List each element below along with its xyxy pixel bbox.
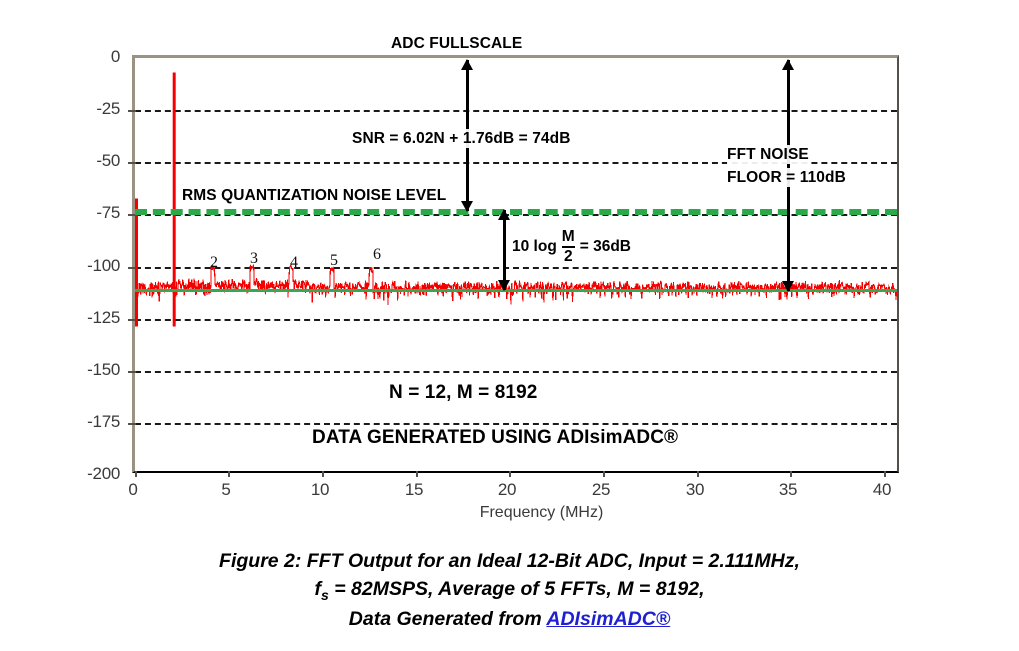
harmonic-marker-6: 6	[373, 246, 381, 264]
annotation-params: N = 12, M = 8192	[389, 381, 537, 405]
fft-noise-floor-arrow-head-down	[782, 281, 794, 292]
figure-caption: Figure 2: FFT Output for an Ideal 12-Bit…	[0, 548, 1019, 633]
x-tick-label-5: 5	[206, 480, 246, 500]
plot-area: 2 3 4 5 6	[132, 55, 899, 473]
process-gain-denominator: 2	[562, 246, 575, 265]
fft-noise-floor-arrow-head-up	[782, 59, 794, 70]
y-tick-label-100: -100	[62, 256, 120, 276]
snr-arrow-head-up	[461, 59, 473, 70]
annotation-fft-noise-floor-line1: FFT NOISE	[727, 145, 809, 164]
annotation-rms-quantization-noise: RMS QUANTIZATION NOISE LEVEL	[182, 186, 446, 205]
process-gain-arrow-head-up	[498, 209, 510, 220]
x-tick-label-10: 10	[300, 480, 340, 500]
caption-line-1: Figure 2: FFT Output for an Ideal 12-Bit…	[0, 548, 1019, 576]
process-gain-suffix: = 36dB	[580, 238, 631, 256]
x-tick-mark-10	[322, 471, 324, 477]
x-tick-label-20: 20	[487, 480, 527, 500]
y-tick-label-75: -75	[62, 203, 120, 223]
annotation-data-source: DATA GENERATED USING ADIsimADC®	[312, 426, 678, 450]
x-tick-mark-20	[509, 471, 511, 477]
y-tick-label-25: -25	[62, 99, 120, 119]
caption-line-2-rest: = 82MSPS, Average of 5 FFTs, M = 8192,	[329, 578, 705, 600]
process-gain-prefix: 10 log	[512, 238, 557, 256]
caption-fs-subscript: s	[321, 587, 329, 603]
x-tick-label-25: 25	[581, 480, 621, 500]
x-tick-label-40: 40	[862, 480, 902, 500]
x-tick-mark-35	[790, 471, 792, 477]
snr-arrow-head-down	[461, 201, 473, 212]
process-gain-numerator: M	[560, 229, 577, 246]
harmonic-marker-3: 3	[250, 250, 258, 268]
caption-line-3: Data Generated from ADIsimADC®	[0, 606, 1019, 634]
x-tick-mark-30	[697, 471, 699, 477]
x-tick-mark-15	[416, 471, 418, 477]
rms-quantization-noise-line	[135, 209, 897, 215]
x-axis-title: Frequency (MHz)	[0, 504, 1019, 522]
x-tick-label-15: 15	[394, 480, 434, 500]
process-gain-arrow-shaft	[503, 210, 506, 290]
annotation-fft-noise-floor-line2: FLOOR = 110dB	[727, 168, 846, 187]
y-tick-label-200: -200	[62, 464, 120, 484]
figure-root: 0 -25 -50 -75 -100 -125 -150 -175 -200 0…	[0, 0, 1019, 651]
harmonic-marker-5: 5	[330, 252, 338, 270]
annotation-snr-formula: SNR = 6.02N + 1.76dB = 74dB	[352, 129, 571, 148]
x-tick-mark-0	[135, 471, 137, 477]
x-tick-mark-40	[884, 471, 886, 477]
harmonic-marker-4: 4	[290, 254, 298, 272]
x-tick-label-30: 30	[675, 480, 715, 500]
x-tick-mark-25	[603, 471, 605, 477]
y-tick-label-50: -50	[62, 151, 120, 171]
y-tick-label-125: -125	[62, 308, 120, 328]
caption-line-2: fs = 82MSPS, Average of 5 FFTs, M = 8192…	[0, 576, 1019, 606]
caption-line-3-prefix: Data Generated from	[349, 608, 547, 630]
x-tick-label-0: 0	[113, 480, 153, 500]
y-tick-label-0: 0	[62, 47, 120, 67]
annotation-adc-fullscale: ADC FULLSCALE	[391, 34, 522, 53]
x-tick-mark-5	[228, 471, 230, 477]
process-gain-arrow-head-down	[498, 280, 510, 291]
process-gain-fraction: M 2	[560, 229, 577, 264]
x-tick-label-35: 35	[768, 480, 808, 500]
harmonic-marker-2: 2	[210, 254, 218, 272]
adisimadc-link[interactable]: ADIsimADC®	[546, 608, 670, 630]
annotation-process-gain: 10 log M 2 = 36dB	[512, 229, 631, 264]
y-tick-label-175: -175	[62, 412, 120, 432]
y-tick-label-150: -150	[62, 360, 120, 380]
